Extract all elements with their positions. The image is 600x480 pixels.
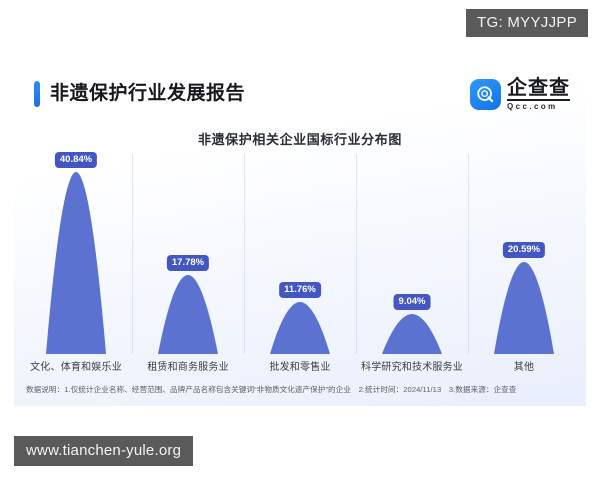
qcc-logo-text: 企查查 Qcc.com <box>507 78 570 111</box>
qcc-logo-name-en: Qcc.com <box>507 103 570 111</box>
chart-bar-column: 11.76% <box>244 154 356 354</box>
chart-title: 非遗保护相关企业国标行业分布图 <box>14 129 586 148</box>
chart-x-label-0: 文化、体育和娱乐业 <box>20 358 132 373</box>
chart-value-label: 9.04% <box>394 294 431 311</box>
chart-x-label-4: 其他 <box>468 358 580 373</box>
watermark-tg-badge: TG: MYYJJPP <box>466 9 588 37</box>
qcc-logo: 企查查 Qcc.com <box>470 78 570 111</box>
chart-x-label-2: 批发和零售业 <box>244 358 356 373</box>
chart-x-label-1: 租赁和商务服务业 <box>132 358 244 373</box>
chart-bar <box>20 172 132 354</box>
chart-bar <box>132 275 244 354</box>
qcc-logo-icon <box>470 79 501 110</box>
chart-bar-column: 20.59% <box>468 154 580 354</box>
chart-value-label: 17.78% <box>167 255 209 272</box>
card-header: 非遗保护行业发展报告 企查查 Qcc.com <box>34 79 570 113</box>
chart-x-label-3: 科学研究和技术服务业 <box>356 358 468 373</box>
chart-bar <box>356 314 468 354</box>
qcc-logo-name-cn: 企查查 <box>507 78 570 101</box>
report-card: 非遗保护行业发展报告 企查查 Qcc.com 非遗保护相关企业国标行业分布图 4… <box>14 62 586 406</box>
page-title: 非遗保护行业发展报告 <box>50 79 245 109</box>
chart-bar-column: 40.84% <box>20 154 132 354</box>
chart-bars: 40.84%17.78%11.76%9.04%20.59% <box>20 154 580 354</box>
chart-footnote: 数据说明：1.仅统计企业名称、经营范围、品牌产品名称包含关键词“非物质文化遗产保… <box>26 384 576 395</box>
chart-bar-column: 17.78% <box>132 154 244 354</box>
chart-value-label: 20.59% <box>503 242 545 259</box>
chart-bar <box>468 262 580 354</box>
chart-value-label: 11.76% <box>279 282 321 299</box>
chart-bar <box>244 302 356 354</box>
chart-plot-area: 40.84%17.78%11.76%9.04%20.59% <box>20 154 580 354</box>
chart-value-label: 40.84% <box>55 152 97 169</box>
chart-bar-column: 9.04% <box>356 154 468 354</box>
chart-x-axis-labels: 文化、体育和娱乐业租赁和商务服务业批发和零售业科学研究和技术服务业其他 <box>20 358 580 373</box>
watermark-url-badge: www.tianchen-yule.org <box>14 436 193 466</box>
title-accent-bar <box>34 81 40 107</box>
